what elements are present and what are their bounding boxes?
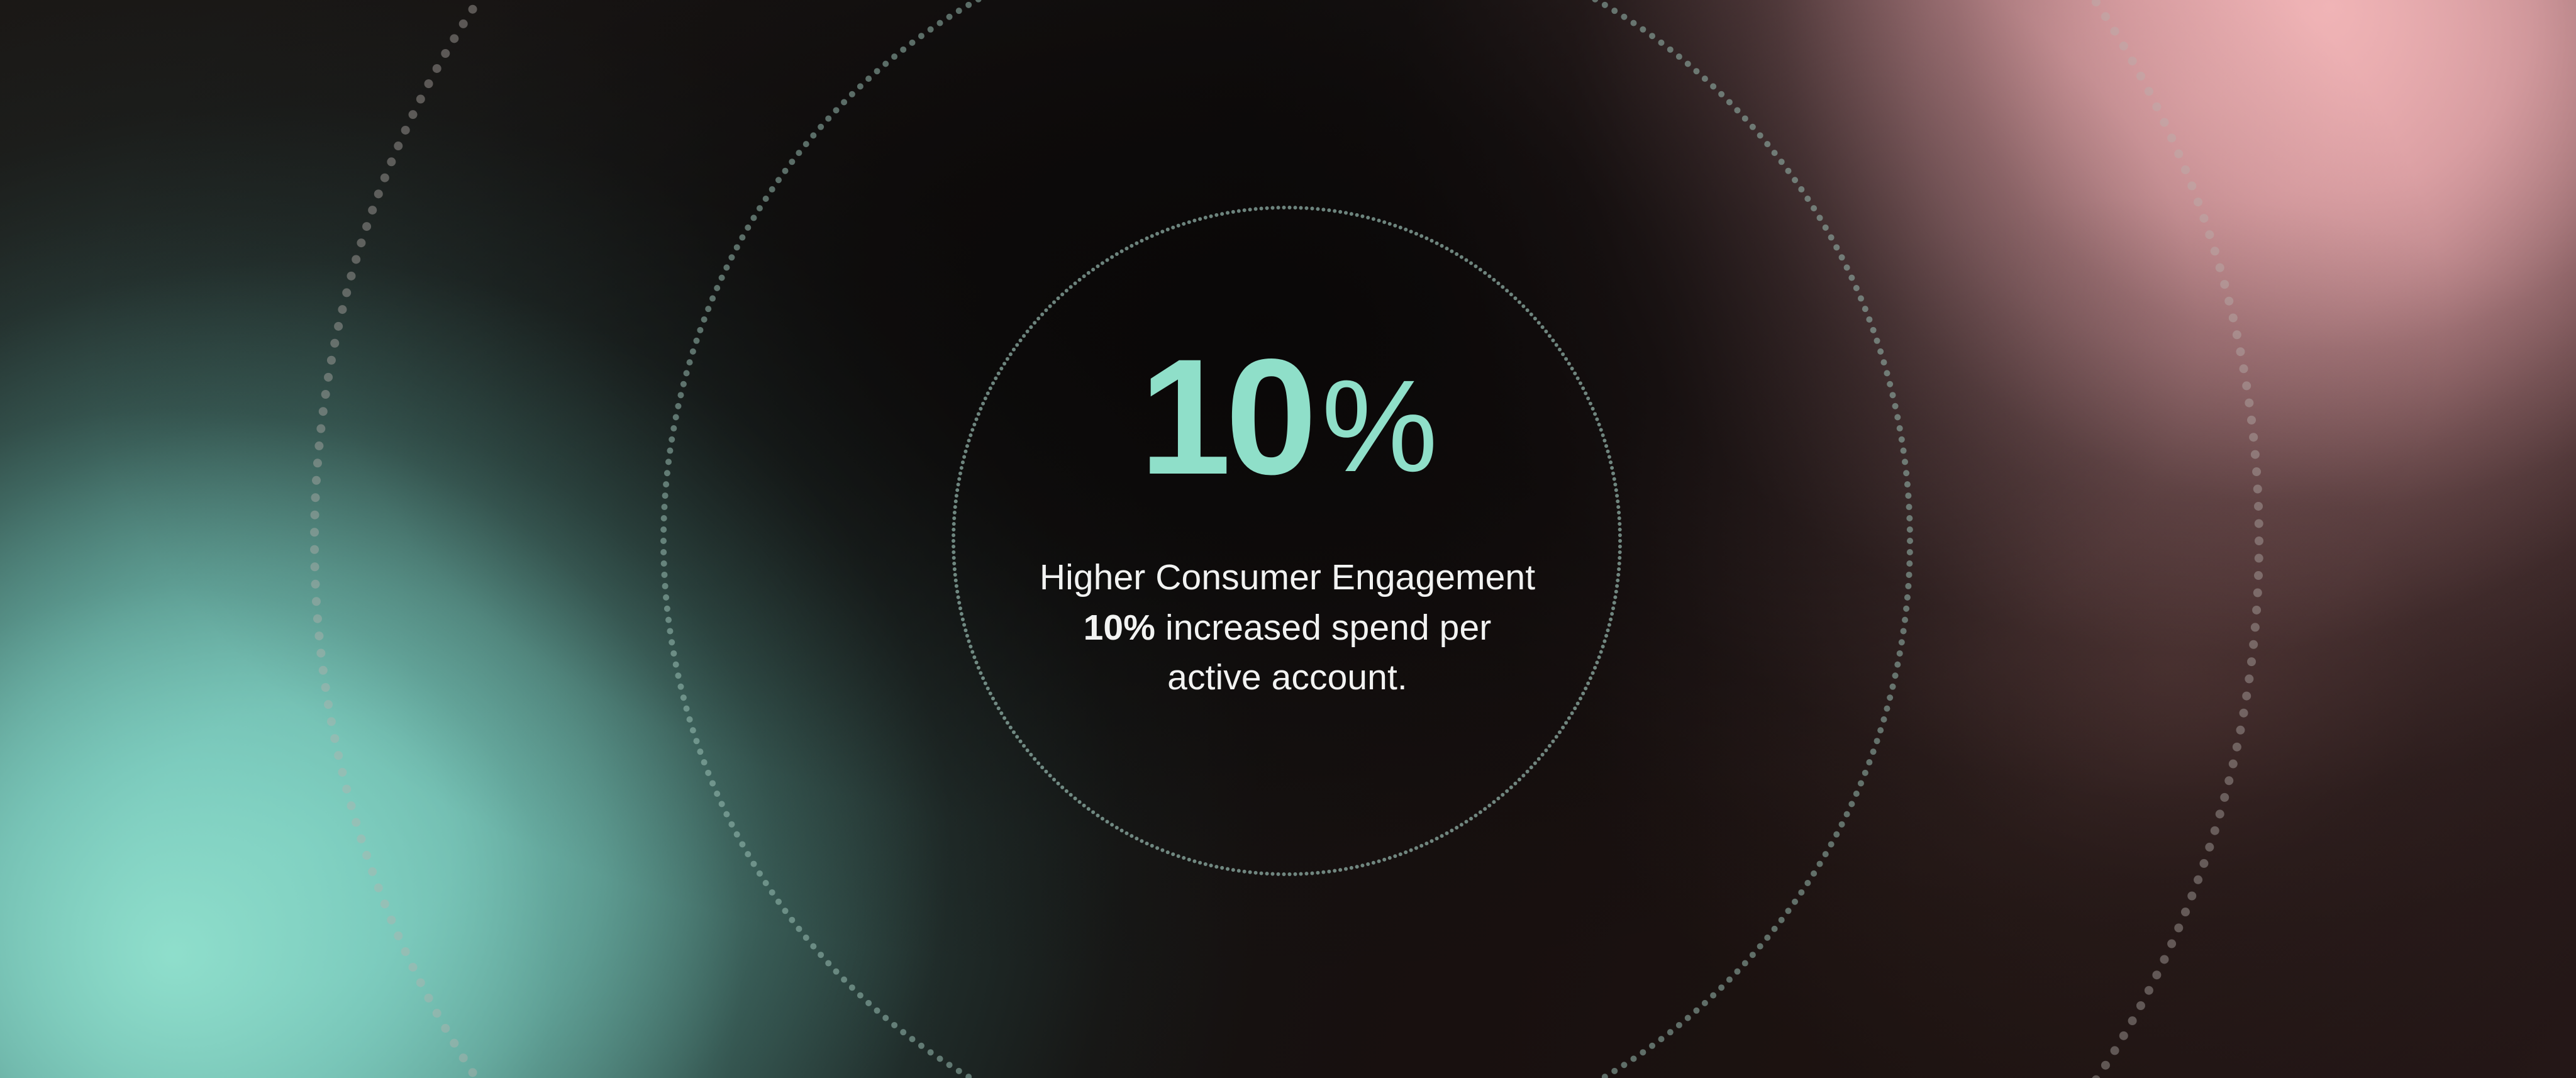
caption-lead: Higher Consumer Engagement — [1040, 557, 1535, 597]
caption-highlight: 10% — [1084, 608, 1155, 648]
stat-headline: 10 % — [1140, 339, 1435, 496]
stat-percent-symbol: % — [1321, 365, 1435, 489]
stat-value: 10 — [1140, 339, 1311, 496]
caption-trail: increased spend per active account. — [1155, 608, 1491, 698]
banner-content: 10 % Higher Consumer Engagement 10% incr… — [0, 0, 2576, 1078]
stat-hero-banner: 10 % Higher Consumer Engagement 10% incr… — [0, 0, 2576, 1078]
stat-caption: Higher Consumer Engagement 10% increased… — [1039, 553, 1536, 703]
